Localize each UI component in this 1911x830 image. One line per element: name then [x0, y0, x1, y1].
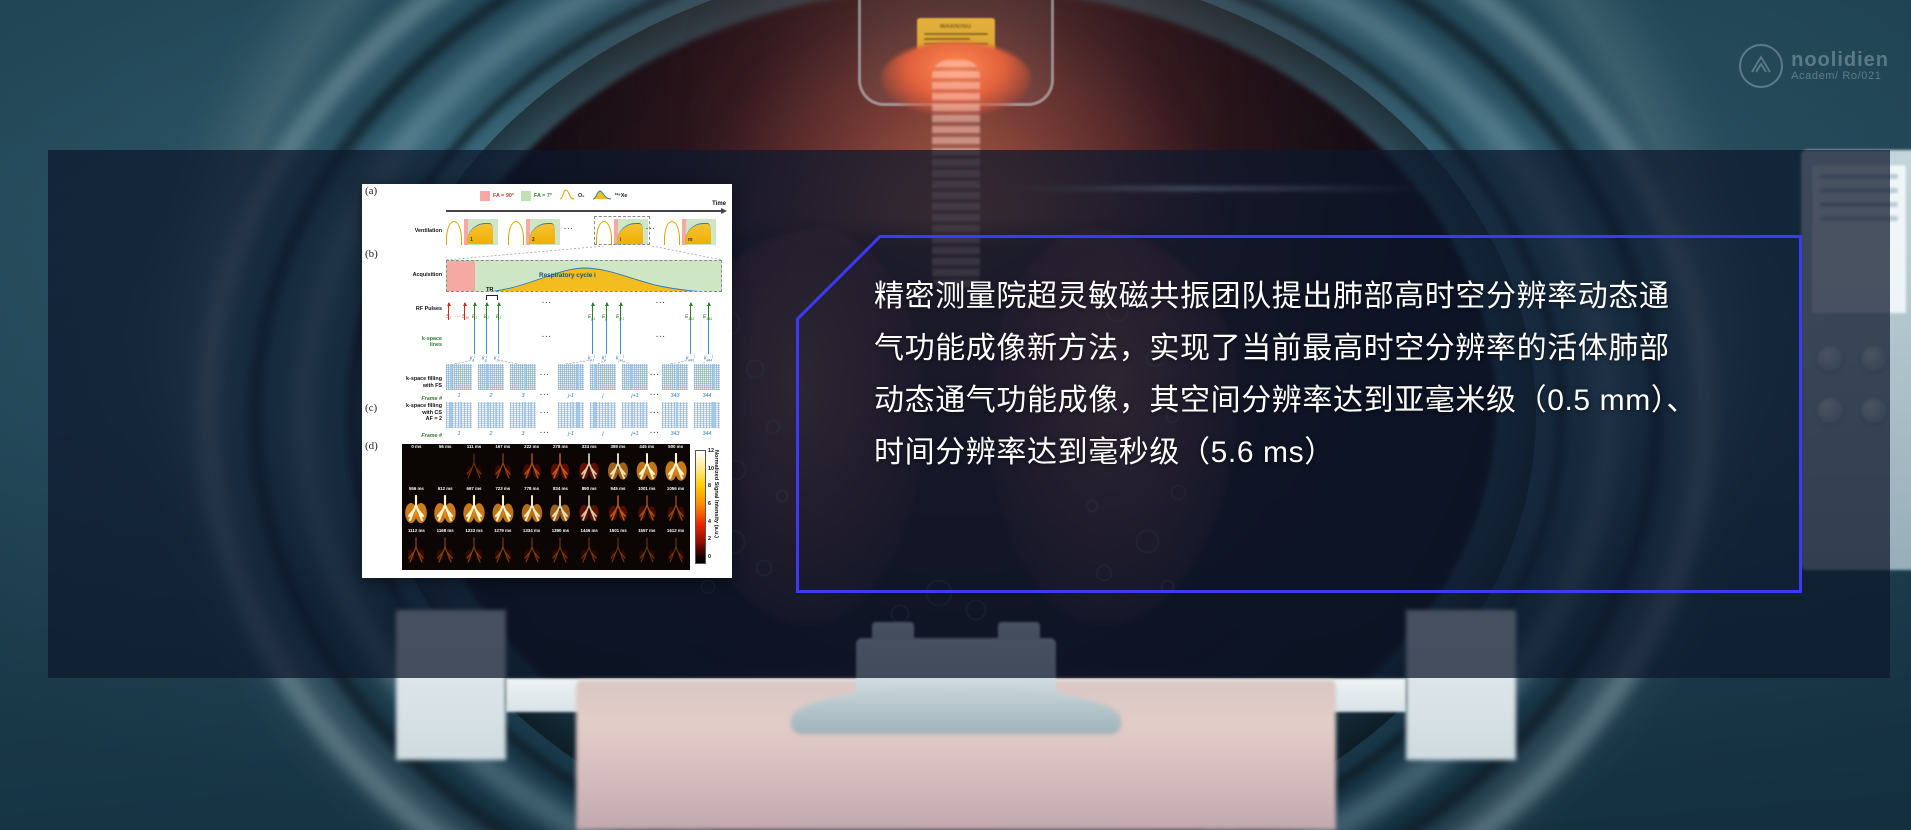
- frame-number: j+1: [622, 431, 648, 437]
- row-label-kspace-lines: k-space lines: [410, 336, 442, 348]
- xenon-uptake-waveform: [475, 265, 722, 292]
- xenon-curve-icon: [592, 189, 612, 202]
- frame-number: j: [590, 431, 616, 437]
- dynamic-frame-cell: 1168 ms: [431, 528, 460, 570]
- kspace-line: [498, 320, 499, 354]
- ellipsis: ···: [650, 372, 660, 379]
- kspace-filled-line: [460, 402, 462, 428]
- kspace-line-label: kj+1j: [616, 354, 624, 363]
- kspace-line-label: kjj: [602, 354, 606, 363]
- ventilation-lung-frame: [606, 452, 630, 483]
- pulse-label: S₁₀: [462, 314, 469, 320]
- dynamic-frame-cell: 1001 ms: [632, 486, 661, 528]
- headline-line: 气功能成像新方法，实现了当前最高时空分辨率的活体肺部: [874, 323, 1756, 375]
- dynamic-frame-cell: 612 ms: [431, 486, 460, 528]
- ventilation-lung-frame: [491, 452, 515, 483]
- headline-line: 时间分辨率达到毫秒级（5.6 ms）: [874, 427, 1756, 479]
- ventilation-lung-frame: [664, 494, 688, 525]
- frame-timestamp: 1390 ms: [546, 528, 575, 533]
- kspace-line: [474, 320, 475, 354]
- frame-number: 1: [446, 393, 472, 399]
- ventilation-lung-frame: [635, 452, 659, 483]
- frame-number: 344: [694, 393, 720, 399]
- cycle-number: 2: [532, 237, 535, 243]
- ellipsis: ···: [540, 372, 550, 379]
- o2-breath-curve: [664, 221, 680, 245]
- kspace-block-cs: [446, 402, 472, 428]
- kspace-filled-line: [577, 364, 579, 390]
- tr-label: TR: [486, 287, 493, 293]
- zoom-connector: [446, 246, 722, 260]
- kspace-block-fs: [694, 364, 720, 390]
- frame-timestamp: 1223 ms: [460, 528, 489, 533]
- legend-swatch-green: [521, 191, 531, 201]
- ventilation-lung-frame: [577, 452, 601, 483]
- ventilation-lung-frame: [664, 452, 688, 483]
- frame-timestamp: 1446 ms: [575, 528, 604, 533]
- selected-cycle-box: [594, 216, 650, 245]
- kspace-line-label: k343j: [686, 354, 695, 363]
- dynamic-frame-cell: 778 ms: [517, 486, 546, 528]
- kspace-filled-line: [572, 402, 574, 428]
- kspace-block-cs: [694, 402, 720, 428]
- kspace-block-cs: [622, 402, 648, 428]
- frame-timestamp: 1056 ms: [661, 486, 690, 491]
- kspace-line-label: k2j: [482, 354, 487, 363]
- legend-label: FA = 7°: [534, 193, 552, 199]
- kspace-block-cs: [510, 402, 536, 428]
- dynamic-frame-cell: 278 ms: [546, 444, 575, 486]
- panel-label-a: (a): [365, 185, 377, 197]
- dynamic-frame-cell: 1056 ms: [661, 486, 690, 528]
- ventilation-breath: 1: [446, 217, 498, 245]
- kspace-block-cs: [590, 402, 616, 428]
- dynamic-frame-cell: 1279 ms: [488, 528, 517, 570]
- kspace-line-label: kj-1j: [588, 354, 595, 363]
- row-label-acquisition: Acquisition: [384, 272, 442, 278]
- row-label-kspace-cs: k-space filling with CS AF = 2: [380, 403, 442, 423]
- kspace-line-label: k3j: [494, 354, 499, 363]
- headline-callout-box: 精密测量院超灵敏磁共振团队提出肺部高时空分辨率动态通 气功能成像新方法，实现了当…: [796, 235, 1802, 593]
- logo-line-2: Academ/ Ro/021: [1791, 71, 1889, 83]
- dynamic-frame-cell: 556 ms: [402, 486, 431, 528]
- frame-number: j-1: [558, 431, 584, 437]
- frame-timestamp: 612 ms: [431, 486, 460, 491]
- legend-swatch-pink: [480, 191, 490, 201]
- frame-row: 0 ms56 ms111 ms167 ms222 ms278 ms334 ms3…: [402, 444, 690, 486]
- frame-timestamp: 1279 ms: [488, 528, 517, 533]
- dynamic-frame-cell: 667 ms: [460, 486, 489, 528]
- kspace-filled-line: [495, 402, 497, 428]
- logo-line-1: noolidien: [1791, 50, 1889, 71]
- ellipsis: ···: [542, 334, 552, 341]
- frame-number: 2: [478, 431, 504, 437]
- frame-timestamp: 500 ms: [661, 444, 690, 449]
- dynamic-frame-cell: 1112 ms: [402, 528, 431, 570]
- dynamic-frame-cell: 834 ms: [546, 486, 575, 528]
- colorbar-tick-label: 10: [708, 466, 714, 472]
- acquisition-saturation-segment: [447, 261, 475, 291]
- dynamic-frame-cell: 1501 ms: [604, 528, 633, 570]
- colorbar: [695, 450, 706, 564]
- dynamic-ventilation-image-grid: 0 ms56 ms111 ms167 ms222 ms278 ms334 ms3…: [402, 444, 690, 570]
- legend-label: ¹²⁹Xe: [615, 193, 628, 199]
- panel-label-d: (d): [365, 440, 378, 452]
- colorbar-tick-label: 6: [708, 501, 711, 507]
- ventilation-waveform-row: 12im······: [446, 217, 722, 245]
- rf-excitation-pulse: [606, 303, 607, 320]
- dynamic-frame-cell: 0 ms: [402, 444, 431, 486]
- frame-timestamp: 167 ms: [488, 444, 517, 449]
- warning-label-title: WARNING: [917, 24, 995, 30]
- respiratory-cycle-label: Respiratory cycle i: [539, 272, 596, 279]
- frame-number: 1: [446, 431, 472, 437]
- kspace-line: [690, 320, 691, 354]
- frame-timestamp: 1112 ms: [402, 528, 431, 533]
- dynamic-frame-cell: 389 ms: [604, 444, 633, 486]
- ventilation-lung-frame: [433, 494, 457, 525]
- logo-emblem-icon: [1739, 44, 1783, 88]
- kspace-block-fs: [478, 364, 504, 390]
- warning-label-line: [924, 33, 988, 35]
- frame-number: j-1: [558, 393, 584, 399]
- frame-timestamp: 222 ms: [517, 444, 546, 449]
- legend-item-xe: ¹²⁹Xe: [592, 189, 628, 202]
- kspace-filled-line: [450, 402, 452, 428]
- dynamic-frame-cell: 1557 ms: [632, 528, 661, 570]
- legend-label: O₂: [578, 193, 585, 199]
- frame-timestamp: 445 ms: [632, 444, 661, 449]
- frame-row: 556 ms612 ms667 ms723 ms778 ms834 ms890 …: [402, 486, 690, 528]
- kspace-filled-line: [530, 402, 532, 428]
- figure-canvas: (a) (b) (c) (d) FA = 90° FA = 7° O₂: [362, 184, 732, 578]
- headline-line: 精密测量院超灵敏磁共振团队提出肺部高时空分辨率动态通: [874, 271, 1756, 323]
- logo-wordmark: noolidien Academ/ Ro/021: [1791, 50, 1889, 83]
- kspace-line: [708, 320, 709, 354]
- kspace-line: [620, 320, 621, 354]
- pulse-label: S₁: [446, 314, 451, 320]
- ventilation-lung-frame: [548, 494, 572, 525]
- row-label-rf-pulses: RF Pulses: [384, 306, 442, 312]
- frame-number: 343: [662, 393, 688, 399]
- kspace-block-fs: [590, 364, 616, 390]
- kspace-filled-line: [487, 402, 489, 428]
- kspace-filled-line: [711, 402, 713, 428]
- kspace-filled-line: [676, 364, 678, 390]
- ellipsis: ···: [650, 430, 660, 437]
- kspace-filled-line: [676, 402, 678, 428]
- ventilation-lung-frame: [664, 536, 688, 567]
- dynamic-frame-cell: 445 ms: [632, 444, 661, 486]
- frame-timestamp: 778 ms: [517, 486, 546, 491]
- dynamic-frame-cell: 56 ms: [431, 444, 460, 486]
- frame-timestamp: 278 ms: [546, 444, 575, 449]
- ventilation-breath: 2: [508, 217, 560, 245]
- frame-number: 343: [662, 431, 688, 437]
- dynamic-frame-cell: 1446 ms: [575, 528, 604, 570]
- kspace-line: [606, 320, 607, 354]
- frame-row: 1112 ms1168 ms1223 ms1279 ms1334 ms1390 …: [402, 528, 690, 570]
- dynamic-frame-cell: 1390 ms: [546, 528, 575, 570]
- kspace-block-fs: [622, 364, 648, 390]
- legend-item-fa7: FA = 7°: [521, 191, 552, 201]
- ellipsis: ···: [650, 410, 660, 417]
- frame-timestamp: 667 ms: [460, 486, 489, 491]
- kspace-filled-line: [594, 364, 596, 390]
- kspace-block-fs: [510, 364, 536, 390]
- ellipsis: ···: [540, 410, 550, 417]
- ellipsis: ···: [650, 392, 660, 399]
- kspace-block-fs: [446, 364, 472, 390]
- ventilation-lung-frame: [520, 494, 544, 525]
- ventilation-lung-frame: [548, 452, 572, 483]
- ventilation-lung-frame: [491, 536, 515, 567]
- ventilation-lung-frame: [577, 494, 601, 525]
- row-label-ventilation: Ventilation: [384, 228, 442, 234]
- dynamic-frame-cell: 1223 ms: [460, 528, 489, 570]
- ellipsis: ···: [656, 334, 666, 341]
- kspace-filled-line: [577, 402, 579, 428]
- kspace-line: [592, 320, 593, 354]
- ventilation-lung-frame: [433, 536, 457, 567]
- row-label-kspace-fs: k-space filling with FS: [380, 376, 442, 389]
- frame-timestamp: 111 ms: [460, 444, 489, 449]
- ventilation-lung-frame: [635, 494, 659, 525]
- frame-timestamp: 556 ms: [402, 486, 431, 491]
- kspace-filled-line: [713, 364, 715, 390]
- colorbar-tick-label: 0: [708, 554, 711, 560]
- ventilation-lung-frame: [404, 536, 428, 567]
- figure-legend: FA = 90° FA = 7° O₂ ¹²⁹Xe: [480, 189, 627, 202]
- kspace-filled-line: [450, 364, 452, 390]
- tr-interval-bracket: [486, 295, 498, 300]
- scientific-figure[interactable]: (a) (b) (c) (d) FA = 90° FA = 7° O₂: [362, 184, 732, 578]
- panel-label-b: (b): [365, 248, 378, 260]
- kspace-line-label: k344j: [704, 354, 713, 363]
- frame-timestamp: 723 ms: [488, 486, 517, 491]
- ventilation-lung-frame: [520, 536, 544, 567]
- ventilation-lung-frame: [404, 494, 428, 525]
- kspace-line-label: k1j: [470, 354, 475, 363]
- colorbar-tick-label: 8: [708, 483, 711, 489]
- frame-number: 3: [510, 393, 536, 399]
- panel-label-c: (c): [365, 402, 377, 414]
- kspace-filled-line: [631, 364, 633, 390]
- institute-logo: noolidien Academ/ Ro/021: [1739, 44, 1889, 88]
- legend-item-o2: O₂: [559, 189, 585, 202]
- ventilation-lung-frame: [606, 494, 630, 525]
- kspace-filled-line: [594, 402, 596, 428]
- ellipsis: ···: [540, 430, 550, 437]
- dynamic-frame-cell: 890 ms: [575, 486, 604, 528]
- frame-timestamp: 334 ms: [575, 444, 604, 449]
- ventilation-lung-frame: [635, 536, 659, 567]
- kspace-filled-line: [642, 402, 644, 428]
- frame-number: 344: [694, 431, 720, 437]
- kspace-block-cs: [558, 402, 584, 428]
- dynamic-frame-cell: 334 ms: [575, 444, 604, 486]
- cycle-number: 1: [470, 237, 473, 243]
- legend-label: FA = 90°: [493, 193, 514, 199]
- warning-label-line: [924, 38, 971, 40]
- slide-stage: WARNING: [0, 0, 1911, 830]
- ellipsis: ···: [564, 226, 574, 233]
- row-label-frame-fs: Frame #: [392, 396, 442, 402]
- ventilation-lung-frame: [462, 494, 486, 525]
- ventilation-lung-frame: [462, 536, 486, 567]
- ventilation-lung-frame: [491, 494, 515, 525]
- o2-breath-curve: [508, 221, 524, 245]
- cycle-number: m: [688, 237, 692, 243]
- kspace-filled-line: [487, 364, 489, 390]
- colorbar-tick-label: 4: [708, 519, 711, 525]
- colorbar-tick-label: 12: [708, 448, 714, 454]
- frame-number: 2: [478, 393, 504, 399]
- colorbar-tick-label: 2: [708, 536, 711, 542]
- o2-curve-icon: [559, 189, 575, 202]
- frame-number: j: [590, 393, 616, 399]
- ellipsis: ···: [656, 300, 666, 307]
- o2-breath-curve: [446, 221, 462, 245]
- frame-timestamp: 1612 ms: [661, 528, 690, 533]
- frame-timestamp: 1334 ms: [517, 528, 546, 533]
- frame-timestamp: 56 ms: [431, 444, 460, 449]
- dynamic-frame-cell: 723 ms: [488, 486, 517, 528]
- ventilation-lung-frame: [577, 536, 601, 567]
- kspace-block-cs: [662, 402, 688, 428]
- row-label-frame-cs: Frame #: [392, 433, 442, 439]
- frame-timestamp: 1168 ms: [431, 528, 460, 533]
- kspace-filled-line: [631, 402, 633, 428]
- dynamic-frame-cell: 945 ms: [604, 486, 633, 528]
- time-axis-label: Time: [712, 201, 726, 207]
- frame-number: 3: [510, 431, 536, 437]
- frame-timestamp: 0 ms: [402, 444, 431, 449]
- kspace-block-fs: [662, 364, 688, 390]
- kspace-line: [486, 320, 487, 354]
- pulse-label: ···: [455, 314, 460, 320]
- dynamic-frame-cell: 500 ms: [661, 444, 690, 486]
- kspace-block-fs: [558, 364, 584, 390]
- frame-timestamp: 1501 ms: [604, 528, 633, 533]
- kspace-block-cs: [478, 402, 504, 428]
- kspace-filled-line: [524, 402, 526, 428]
- ventilation-breath: m: [664, 217, 716, 245]
- frame-timestamp: 389 ms: [604, 444, 633, 449]
- headline-line: 动态通气功能成像，其空间分辨率达到亚毫米级（0.5 mm）、: [874, 375, 1756, 427]
- frame-timestamp: 1001 ms: [632, 486, 661, 491]
- legend-item-fa90: FA = 90°: [480, 191, 514, 201]
- ventilation-lung-frame: [606, 536, 630, 567]
- frame-timestamp: 945 ms: [604, 486, 633, 491]
- dynamic-frame-cell: 167 ms: [488, 444, 517, 486]
- frame-number: j+1: [622, 393, 648, 399]
- ellipsis: ···: [540, 392, 550, 399]
- ventilation-lung-frame: [520, 452, 544, 483]
- rf-pulse-row: S₁···S₁₀E₁E₂E₃TREj-1EjEj+1E343E344······: [446, 296, 722, 320]
- time-axis: [446, 210, 722, 212]
- dynamic-frame-cell: 1612 ms: [661, 528, 690, 570]
- dynamic-frame-cell: 1334 ms: [517, 528, 546, 570]
- dynamic-frame-cell: 111 ms: [460, 444, 489, 486]
- kspace-filled-line: [607, 402, 609, 428]
- headline-text: 精密测量院超灵敏磁共振团队提出肺部高时空分辨率动态通 气功能成像新方法，实现了当…: [874, 271, 1756, 479]
- frame-timestamp: 890 ms: [575, 486, 604, 491]
- dynamic-frame-cell: 222 ms: [517, 444, 546, 486]
- frame-timestamp: 834 ms: [546, 486, 575, 491]
- ellipsis: ···: [542, 300, 552, 307]
- frame-timestamp: 1557 ms: [632, 528, 661, 533]
- kspace-filled-line: [524, 364, 526, 390]
- ventilation-lung-frame: [462, 452, 486, 483]
- ventilation-lung-frame: [548, 536, 572, 567]
